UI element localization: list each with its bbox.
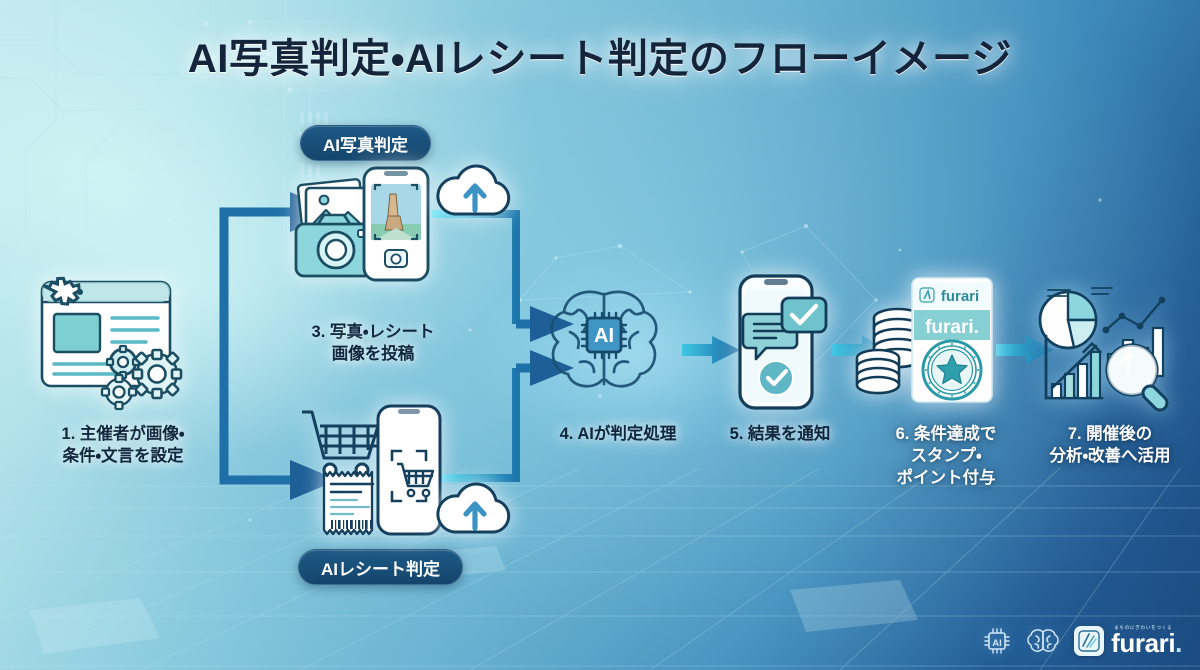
ai-brain-chip-icon: AI: [540, 280, 668, 398]
step-1-label: 1. 主催者が画像・ 条件・文言を設定: [18, 424, 228, 468]
cloud-upload-icon: [432, 164, 518, 224]
phone-scan-cart-icon: [378, 406, 440, 534]
coins-stamp-card-icon: furari furari.: [856, 272, 996, 412]
badge-ai-receipt-judgement: AIレシート判定: [298, 549, 463, 585]
svg-text:AI: AI: [992, 638, 1002, 649]
star-stamp-icon: [923, 341, 981, 399]
page-title: AI写真判定・AIレシート判定のフローイメージ: [0, 26, 1200, 84]
check-card-icon: [782, 298, 826, 332]
card-brand-small: furari: [941, 288, 979, 305]
analytics-charts-icon: [1030, 278, 1180, 406]
receipt-upload-icon: [298, 400, 444, 540]
browser-settings-icon: [36, 278, 196, 404]
receipt-barcode-icon: [324, 472, 373, 534]
infographic-canvas: AI写真判定・AIレシート判定のフローイメージ AI写真判定 AIレシート判定: [0, 0, 1200, 670]
step-3-label: 3. 写真・レシート 画像を投稿: [278, 322, 468, 366]
furari-logo-name: furari.: [1111, 632, 1182, 656]
ai-chip-label: AI: [594, 325, 614, 347]
step-7-label: 7. 開催後の 分析・改善へ活用: [1020, 424, 1200, 468]
badge-ai-photo-judgement: AI写真判定: [300, 125, 431, 161]
furari-logo-mark: [1074, 626, 1104, 656]
check-badge-icon: [759, 361, 793, 395]
card-brand-large: furari.: [925, 317, 979, 338]
photo-upload-icon: [292, 166, 432, 284]
pie-chart-icon: [1040, 288, 1112, 348]
brain-icon: [1026, 627, 1060, 655]
step-6-label: 6. 条件達成で スタンプ・ ポイント付与: [856, 424, 1036, 489]
step-5-label: 5. 結果を通知: [700, 424, 860, 446]
furari-logo: まちのにぎわいをつくる furari.: [1074, 626, 1182, 656]
step-4-label: 4. AIが判定処理: [528, 424, 708, 446]
shopping-cart-icon: [302, 412, 382, 476]
footer-branding: AI: [982, 626, 1182, 656]
stamp-card: furari furari.: [912, 278, 992, 402]
ai-chip-icon: AI: [982, 626, 1012, 656]
phone-camera-photo-icon: [364, 168, 428, 280]
cloud-upload-icon-secondary: [432, 482, 518, 542]
phone-notification-icon: [726, 272, 830, 412]
